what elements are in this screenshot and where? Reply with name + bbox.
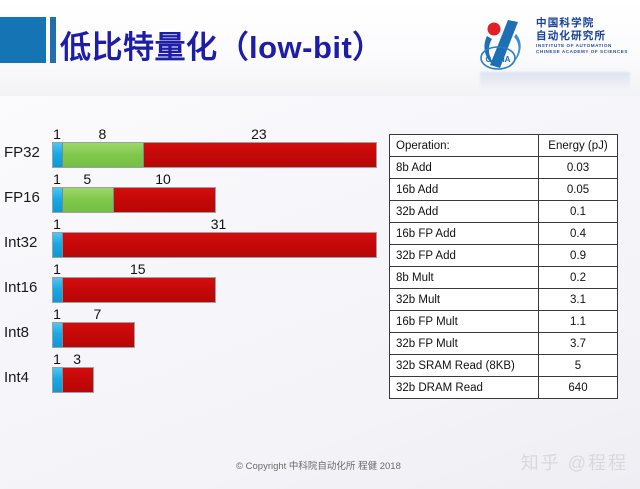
cell-energy: 0.05 [539, 179, 618, 201]
bit-width-bar-chart: FP321823FP161510Int32131Int16115Int817In… [0, 130, 385, 405]
bit-count-label: 31 [211, 216, 227, 232]
bar-segment-man [63, 278, 215, 302]
page-title: 低比特量化（low-bit） [60, 22, 384, 67]
cell-operation: 32b FP Add [390, 245, 539, 267]
bar-segment-man [63, 368, 93, 392]
cell-energy: 0.4 [539, 223, 618, 245]
table-row: 32b FP Mult3.7 [390, 333, 618, 355]
bar-segment-man [63, 233, 376, 257]
bar-segment-sign [53, 368, 63, 392]
cell-operation: 8b Mult [390, 267, 539, 289]
table-row: 16b FP Mult1.1 [390, 311, 618, 333]
bit-count-label: 5 [83, 171, 91, 187]
copyright-text: © Copyright 中科院自动化所 程健 2018 [236, 458, 401, 472]
bit-count-label: 10 [155, 171, 171, 187]
cell-operation: 16b Add [390, 179, 539, 201]
logo-en-line2: CHINESE ACADEMY OF SCIENCES [536, 49, 632, 55]
cell-operation: 32b SRAM Read (8KB) [390, 355, 539, 377]
cell-operation: 32b DRAM Read [390, 377, 539, 399]
bar-segment-sign [53, 233, 63, 257]
slide-header: 低比特量化（low-bit） CASIA 中国科学院 自动化研究所 INSTIT… [0, 0, 640, 96]
casia-logo: CASIA 中国科学院 自动化研究所 INSTITUTE OF AUTOMATI… [478, 14, 630, 76]
table-row: 32b FP Add0.9 [390, 245, 618, 267]
table-header-row: Operation:Energy (pJ) [390, 135, 618, 157]
logo-cn-line2: 自动化研究所 [536, 30, 632, 43]
bit-count-label: 8 [98, 126, 106, 142]
table-row: 32b DRAM Read640 [390, 377, 618, 399]
slide-canvas: 低比特量化（low-bit） CASIA 中国科学院 自动化研究所 INSTIT… [0, 0, 640, 489]
bar-label-int32: Int32 [4, 234, 50, 251]
cell-energy: 0.1 [539, 201, 618, 223]
cell-energy: 0.2 [539, 267, 618, 289]
bar-label-fp16: FP16 [4, 189, 50, 206]
cell-operation: 32b Mult [390, 289, 539, 311]
casia-logo-mark-icon: CASIA [478, 16, 532, 72]
zhihu-watermark: 知乎 @程程 [521, 449, 628, 475]
bit-count-label: 15 [130, 261, 146, 277]
header-accent-bar [50, 17, 56, 63]
bar-int16 [52, 277, 216, 303]
bar-label-fp32: FP32 [4, 144, 50, 161]
bar-segment-man [63, 323, 134, 347]
cell-operation: 16b FP Mult [390, 311, 539, 333]
bit-count-label: 7 [93, 306, 101, 322]
table-row: 32b Add0.1 [390, 201, 618, 223]
cell-energy: 3.1 [539, 289, 618, 311]
bar-segment-exp [63, 143, 144, 167]
bar-label-int8: Int8 [4, 324, 50, 341]
bar-label-int4: Int4 [4, 369, 50, 386]
table-row: 32b SRAM Read (8KB)5 [390, 355, 618, 377]
bar-segment-man [114, 188, 215, 212]
cell-operation: 32b FP Mult [390, 333, 539, 355]
bar-int32 [52, 232, 377, 258]
bit-count-label: 1 [53, 351, 61, 367]
cell-operation: 8b Add [390, 157, 539, 179]
bit-count-label: 1 [53, 126, 61, 142]
table-row: 16b Add0.05 [390, 179, 618, 201]
bar-fp16 [52, 187, 216, 213]
cell-energy: 0.9 [539, 245, 618, 267]
table-row: 8b Mult0.2 [390, 267, 618, 289]
bar-segment-sign [53, 278, 63, 302]
bar-segment-sign [53, 323, 63, 347]
bar-segment-exp [63, 188, 114, 212]
header-accent-block [0, 17, 46, 63]
cell-operation: 32b Add [390, 201, 539, 223]
table-row: 16b FP Add0.4 [390, 223, 618, 245]
energy-table-body: Operation:Energy (pJ)8b Add0.0316b Add0.… [390, 135, 618, 399]
cell-energy: 3.7 [539, 333, 618, 355]
energy-table: Operation:Energy (pJ)8b Add0.0316b Add0.… [389, 134, 618, 399]
bit-count-label: 3 [73, 351, 81, 367]
bar-segment-sign [53, 143, 63, 167]
bit-count-label: 1 [53, 306, 61, 322]
cell-energy: 0.03 [539, 157, 618, 179]
casia-logo-text: 中国科学院 自动化研究所 INSTITUTE OF AUTOMATION CHI… [536, 17, 632, 56]
bar-int8 [52, 322, 135, 348]
bar-segment-man [144, 143, 376, 167]
cell-energy: 1.1 [539, 311, 618, 333]
table-column-header: Energy (pJ) [539, 135, 618, 157]
bit-count-label: 23 [251, 126, 267, 142]
bit-count-label: 1 [53, 171, 61, 187]
bar-int4 [52, 367, 94, 393]
table-column-header: Operation: [390, 135, 539, 157]
svg-text:CASIA: CASIA [486, 55, 511, 64]
bar-segment-sign [53, 188, 63, 212]
bit-count-label: 1 [53, 261, 61, 277]
cell-energy: 640 [539, 377, 618, 399]
bar-label-int16: Int16 [4, 279, 50, 296]
cell-operation: 16b FP Add [390, 223, 539, 245]
logo-cn-line1: 中国科学院 [536, 17, 632, 30]
logo-reflection [480, 72, 630, 90]
bar-fp32 [52, 142, 377, 168]
table-row: 32b Mult3.1 [390, 289, 618, 311]
table-row: 8b Add0.03 [390, 157, 618, 179]
cell-energy: 5 [539, 355, 618, 377]
bit-count-label: 1 [53, 216, 61, 232]
